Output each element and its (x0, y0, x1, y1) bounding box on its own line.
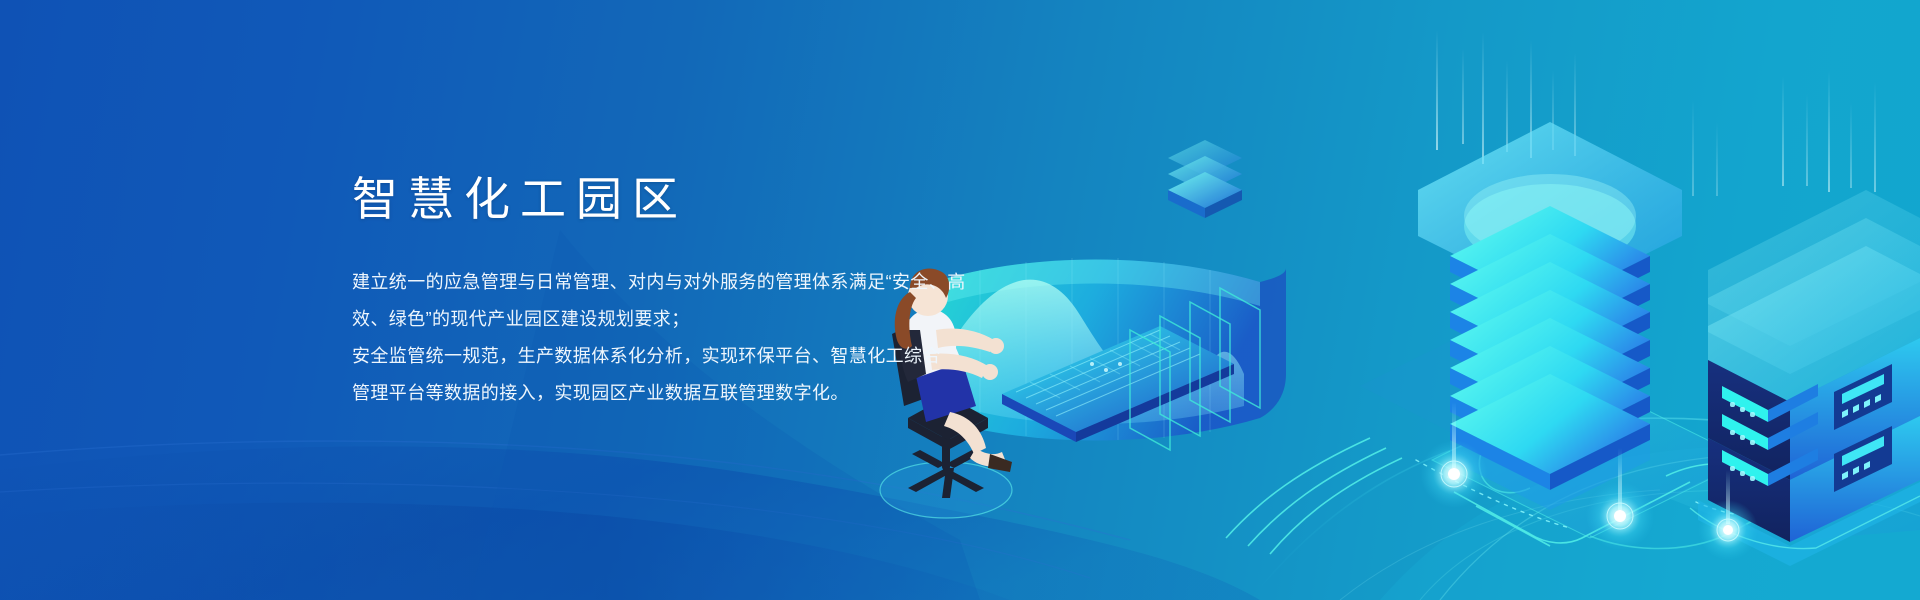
description-line-3: 安全监管统一规范，生产数据体系化分析，实现环保平台、智慧化工综合 (352, 338, 1072, 375)
description-line-2: 效、绿色”的现代产业园区建设规划要求； (352, 301, 1072, 338)
hero-banner: 智慧化工园区 建立统一的应急管理与日常管理、对内与对外服务的管理体系满足“安全、… (0, 0, 1920, 600)
banner-description: 建立统一的应急管理与日常管理、对内与对外服务的管理体系满足“安全、高 效、绿色”… (352, 264, 1072, 412)
description-line-4: 管理平台等数据的接入，实现园区产业数据互联管理数字化。 (352, 375, 1072, 412)
banner-text-block: 智慧化工园区 建立统一的应急管理与日常管理、对内与对外服务的管理体系满足“安全、… (352, 176, 1072, 412)
page-title: 智慧化工园区 (352, 176, 1072, 222)
floating-cube-stack-icon (1168, 140, 1242, 218)
description-line-1: 建立统一的应急管理与日常管理、对内与对外服务的管理体系满足“安全、高 (352, 264, 1072, 301)
